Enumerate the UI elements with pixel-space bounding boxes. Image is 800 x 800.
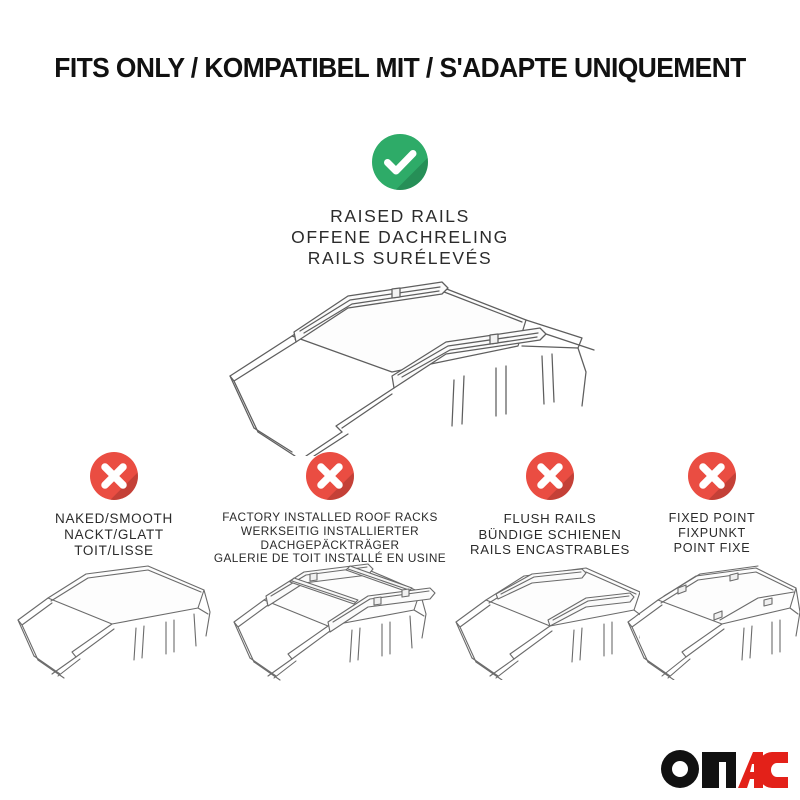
check-circle-icon <box>372 134 428 190</box>
car-roof-factory-rack-illustration <box>218 552 443 684</box>
x-glyph <box>688 452 736 500</box>
compatible-label-fr: RAILS SURÉLEVÉS <box>200 248 600 269</box>
label-line-2: WERKSEITIG INSTALLIERTER <box>206 525 454 539</box>
incompatible-column-factory: FACTORY INSTALLED ROOF RACKS WERKSEITIG … <box>206 452 454 566</box>
label-line-2: BÜNDIGE SCHIENEN <box>452 527 648 543</box>
label-line-3: TOIT/LISSE <box>14 543 214 559</box>
x-glyph <box>90 452 138 500</box>
label-line-3: RAILS ENCASTRABLES <box>452 542 648 558</box>
label-line-3: DACHGEPÄCKTRÄGER <box>206 539 454 553</box>
compatible-label-en: RAISED RAILS <box>200 206 600 227</box>
x-circle-icon <box>688 452 736 500</box>
x-circle-icon <box>90 452 138 500</box>
label-line-2: FIXPUNKT <box>632 526 792 541</box>
logo-letter-o <box>661 750 699 788</box>
car-roof-flush-rails-illustration <box>444 558 640 680</box>
logo-letter-c <box>757 752 788 788</box>
label-line-1: FACTORY INSTALLED ROOF RACKS <box>206 511 454 525</box>
x-circle-icon <box>306 452 354 500</box>
incompatible-labels-fixed: FIXED POINT FIXPUNKT POINT FIXE <box>632 511 792 556</box>
omac-logo <box>660 748 790 790</box>
incompatible-column-fixed: FIXED POINT FIXPUNKT POINT FIXE <box>632 452 792 556</box>
page-title: FITS ONLY / KOMPATIBEL MIT / S'ADAPTE UN… <box>16 52 784 84</box>
compatible-label-de: OFFENE DACHRELING <box>200 227 600 248</box>
label-line-1: NAKED/SMOOTH <box>14 511 214 527</box>
car-roof-fixed-point-illustration <box>618 558 800 680</box>
label-line-3: POINT FIXE <box>632 541 792 556</box>
car-roof-raised-rails-illustration <box>196 276 616 456</box>
x-circle-icon <box>526 452 574 500</box>
logo-letter-m <box>702 752 736 788</box>
compatible-block: RAISED RAILS OFFENE DACHRELING RAILS SUR… <box>200 134 600 269</box>
incompatible-column-flush: FLUSH RAILS BÜNDIGE SCHIENEN RAILS ENCAS… <box>452 452 648 558</box>
car-roof-naked-illustration <box>8 560 213 680</box>
label-line-2: NACKT/GLATT <box>14 527 214 543</box>
label-line-1: FIXED POINT <box>632 511 792 526</box>
incompatible-labels-naked: NAKED/SMOOTH NACKT/GLATT TOIT/LISSE <box>14 511 214 559</box>
x-glyph <box>526 452 574 500</box>
incompatible-labels-flush: FLUSH RAILS BÜNDIGE SCHIENEN RAILS ENCAS… <box>452 511 648 558</box>
check-glyph <box>372 134 428 190</box>
x-glyph <box>306 452 354 500</box>
incompatible-column-naked: NAKED/SMOOTH NACKT/GLATT TOIT/LISSE <box>14 452 214 559</box>
fitment-infographic: FITS ONLY / KOMPATIBEL MIT / S'ADAPTE UN… <box>0 0 800 800</box>
compatible-labels: RAISED RAILS OFFENE DACHRELING RAILS SUR… <box>200 206 600 269</box>
label-line-1: FLUSH RAILS <box>452 511 648 527</box>
